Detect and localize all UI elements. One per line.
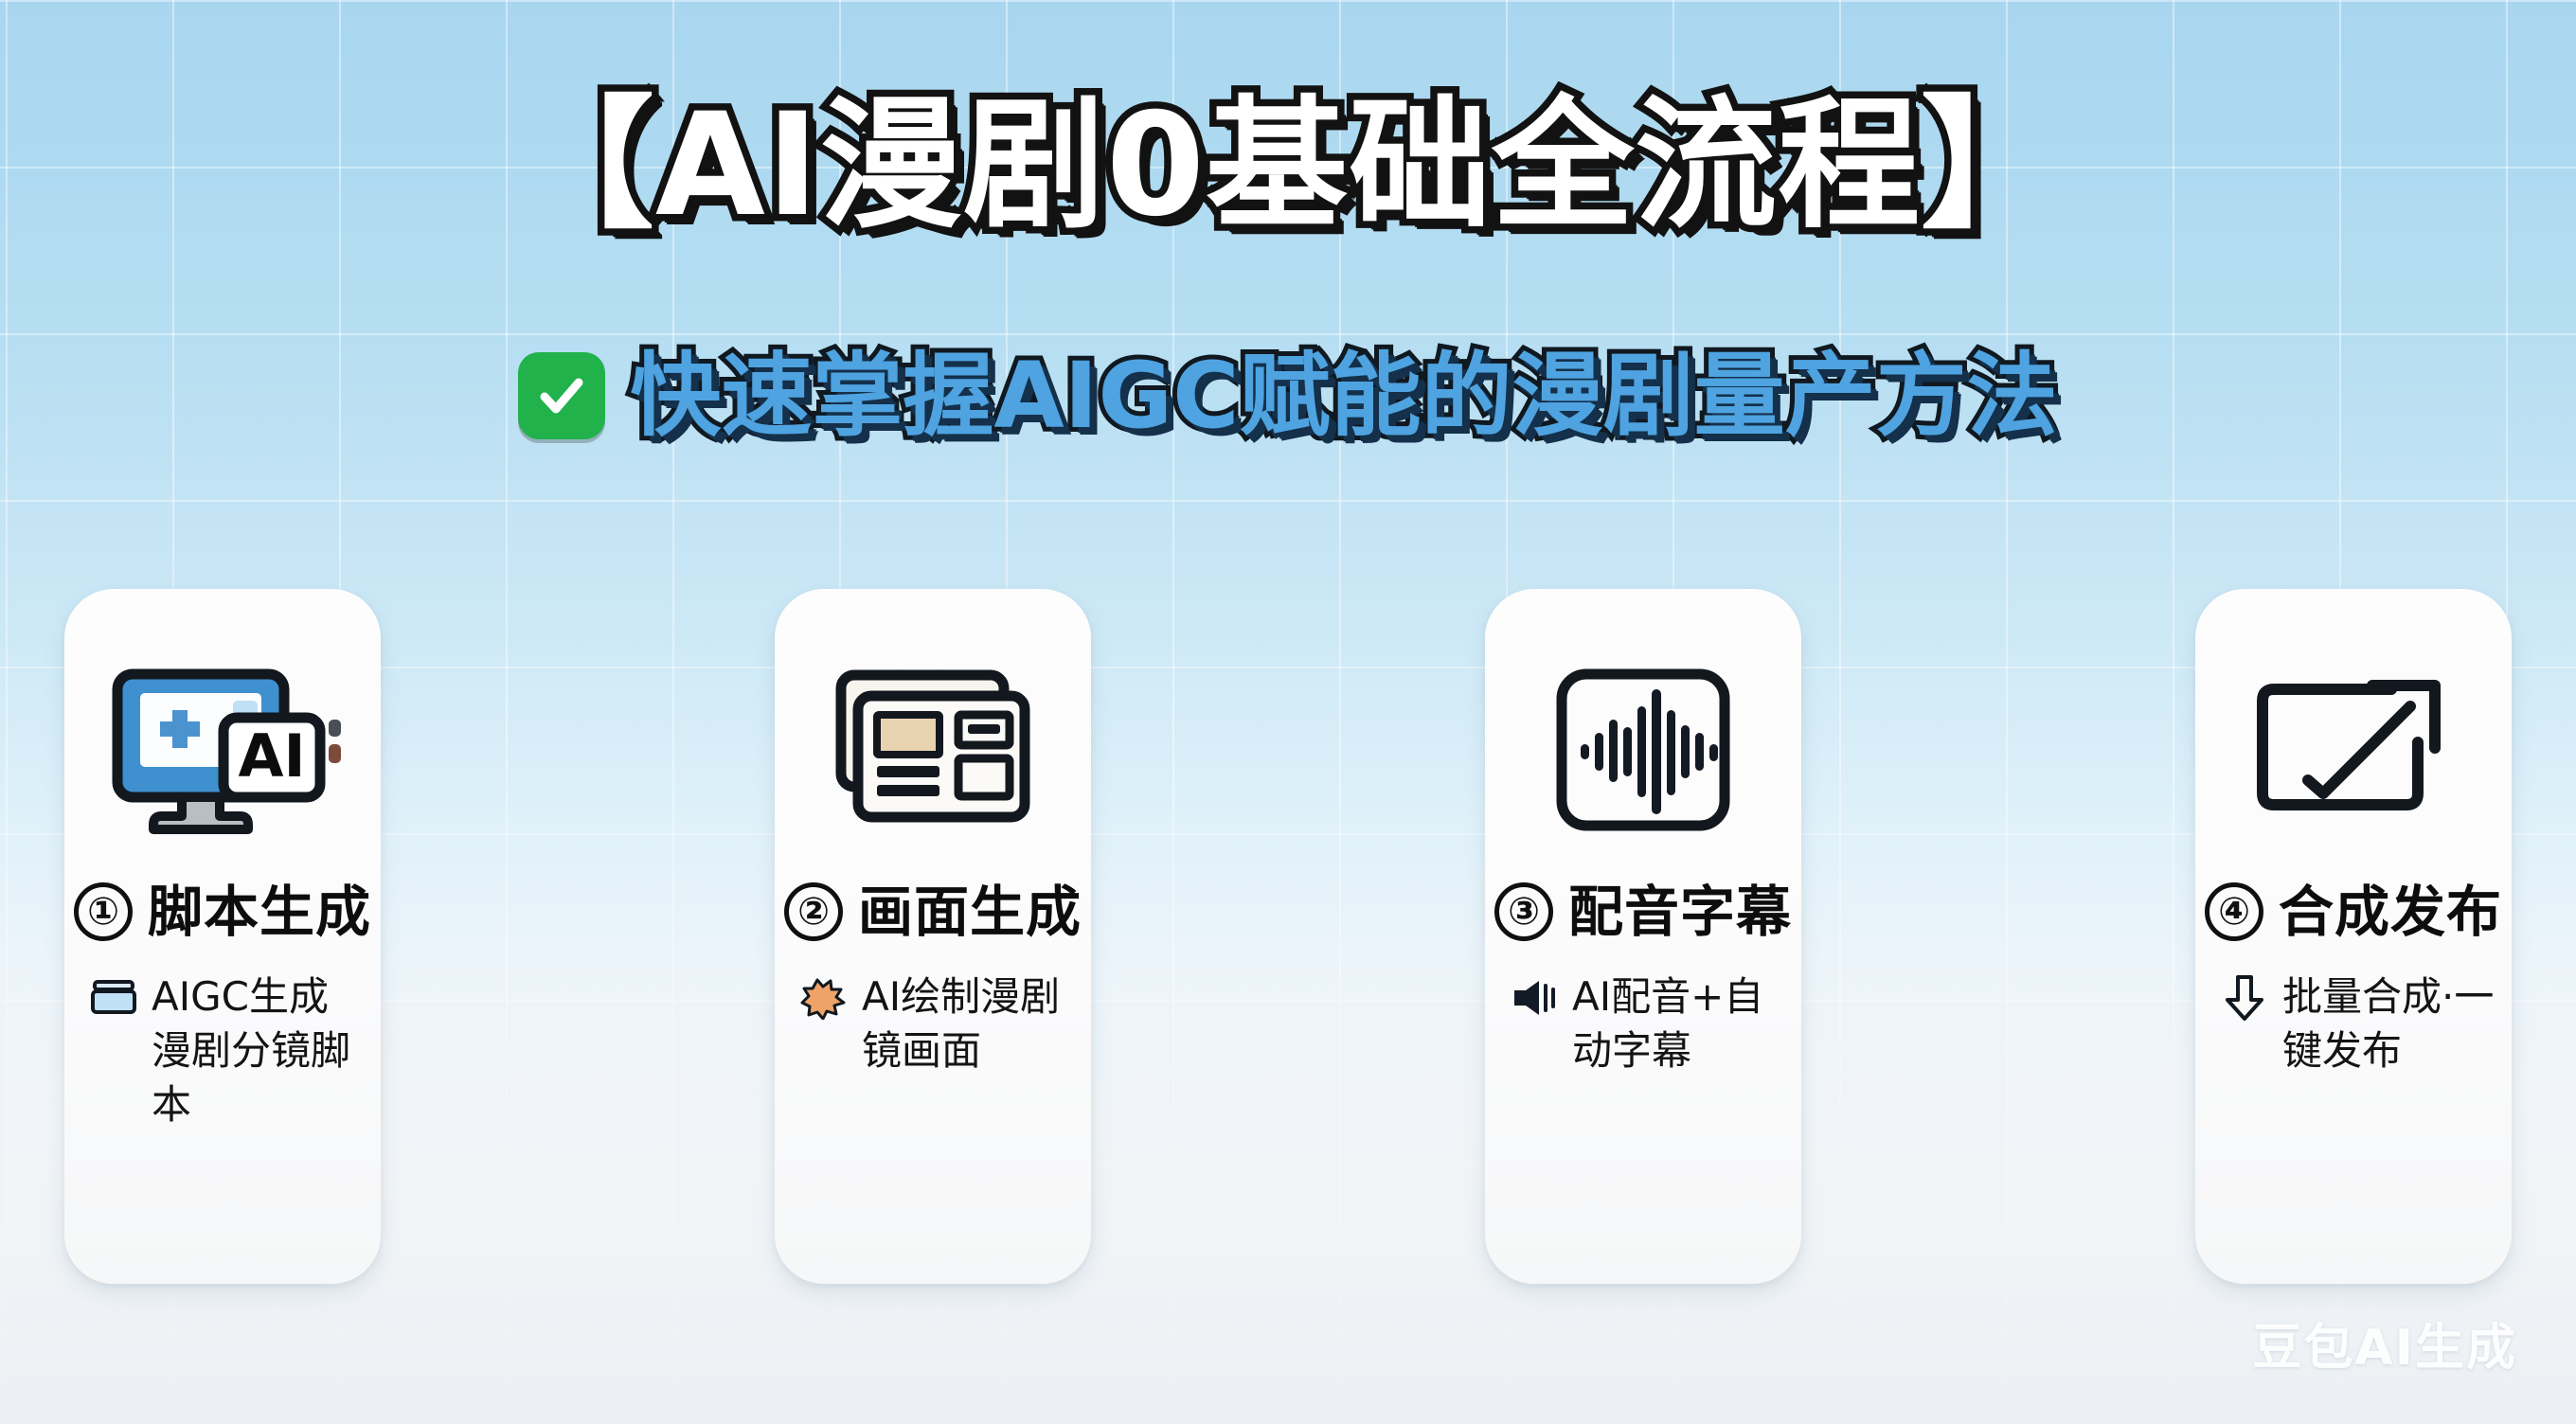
svg-text:AI: AI [238,721,305,791]
card-tray-icon [89,973,138,1023]
check-badge-icon [518,352,605,439]
audio-waveform-icon [1502,632,1784,869]
storyboard-layout-icon [792,632,1074,869]
speaker-icon [1510,973,1559,1023]
step-desc-4: 批量合成·一键发布 [2282,970,2495,1077]
step-title-2: 画面生成 [858,884,1082,939]
card-1-description: AIGC生成漫剧分镜脚本 [81,970,364,1131]
download-arrow-icon [2220,973,2269,1023]
step-card-2[interactable]: ② 画面生成 AI绘制漫剧镜画面 [775,589,1091,1284]
steps-row: AI ① 脚本生成 AIGC生成漫剧分镜脚本 [64,589,2512,1284]
monitor-ai-icon: AI [81,632,364,869]
subtitle-block: 快速掌握AIGC赋能的漫剧量产方法 [0,348,2576,444]
poster-canvas: 【AI漫剧0基础全流程】 快速掌握AIGC赋能的漫剧量产方法 [0,0,2576,1424]
step-number-2: ② [784,882,843,941]
step-desc-3: AI配音+自动字幕 [1572,970,1784,1077]
card-3-heading: ③ 配音字幕 [1502,882,1784,941]
step-card-1[interactable]: AI ① 脚本生成 AIGC生成漫剧分镜脚本 [64,589,381,1284]
page-title: 【AI漫剧0基础全流程】 [512,91,2064,241]
step-number-3: ③ [1494,882,1553,941]
export-trending-up-icon [2212,632,2495,869]
card-4-heading: ④ 合成发布 [2212,882,2495,941]
card-1-heading: ① 脚本生成 [81,882,364,941]
paint-splat-icon [799,973,849,1023]
card-3-description: AI配音+自动字幕 [1502,970,1784,1077]
watermark: 豆包AI生成 [2252,1308,2517,1379]
page-subtitle: 快速掌握AIGC赋能的漫剧量产方法 [630,348,2057,444]
step-title-3: 配音字幕 [1568,884,1792,939]
step-card-3[interactable]: ③ 配音字幕 AI配音+自动字幕 [1485,589,1801,1284]
card-2-heading: ② 画面生成 [792,882,1074,941]
step-card-4[interactable]: ④ 合成发布 批量合成·一键发布 [2195,589,2512,1284]
title-block: 【AI漫剧0基础全流程】 [0,91,2576,241]
step-desc-2: AI绘制漫剧镜画面 [862,970,1074,1077]
card-4-description: 批量合成·一键发布 [2212,970,2495,1077]
step-number-4: ④ [2205,882,2263,941]
step-title-4: 合成发布 [2279,884,2502,939]
step-number-1: ① [74,882,133,941]
step-title-1: 脚本生成 [148,884,371,939]
card-2-description: AI绘制漫剧镜画面 [792,970,1074,1077]
step-desc-1: AIGC生成漫剧分镜脚本 [152,970,364,1131]
